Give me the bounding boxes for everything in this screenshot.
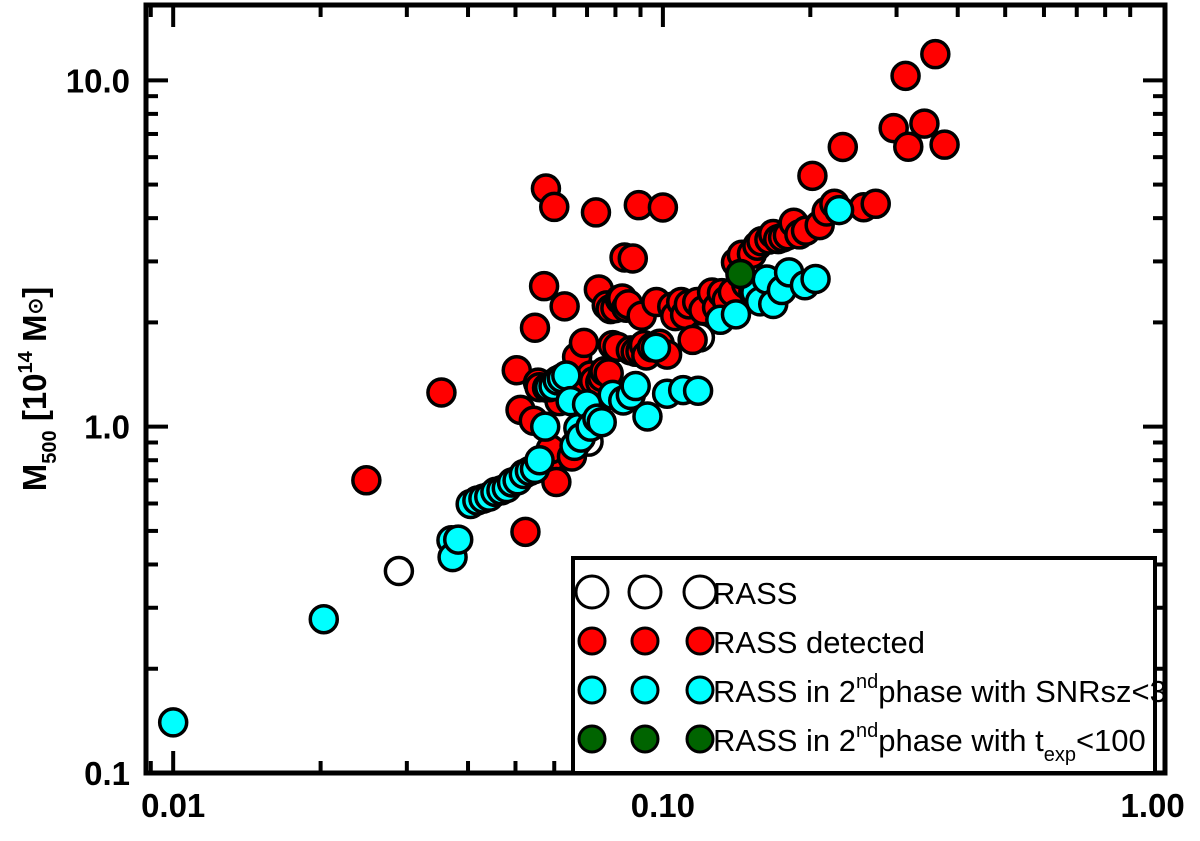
legend-label-1: RASS <box>713 576 797 611</box>
x-tick-label: 0.01 <box>141 787 205 824</box>
data-point <box>588 409 615 436</box>
legend-marker-1-1 <box>576 576 608 608</box>
data-point <box>911 110 938 137</box>
data-point <box>922 41 949 68</box>
legend-marker-2-2 <box>632 628 658 654</box>
data-point <box>570 329 597 356</box>
legend-marker-4-2 <box>632 726 658 752</box>
data-point <box>802 265 829 292</box>
data-point <box>649 194 676 221</box>
data-point <box>634 403 661 430</box>
data-point <box>532 413 559 440</box>
data-point <box>428 379 455 406</box>
data-point <box>895 133 922 160</box>
data-point <box>679 326 706 353</box>
data-point <box>892 62 919 89</box>
series-rass-in-2nd-phase-with-texp-100 <box>727 260 754 287</box>
data-point <box>862 190 889 217</box>
data-point <box>622 373 649 400</box>
data-point <box>551 293 578 320</box>
y-axis-title-text: M500 [1014 M⊙] <box>15 287 61 491</box>
legend-marker-3-2 <box>632 677 658 703</box>
legend-marker-3-1 <box>579 677 605 703</box>
y-tick-label: 0.1 <box>84 755 130 792</box>
data-point <box>512 518 539 545</box>
y-tick-label: 10.0 <box>66 62 130 99</box>
x-axis-title: z <box>655 829 672 841</box>
data-point <box>829 133 856 160</box>
data-point <box>526 447 553 474</box>
data-point <box>685 377 712 404</box>
data-point <box>582 199 609 226</box>
data-point <box>799 162 826 189</box>
data-point <box>521 314 548 341</box>
data-point <box>353 467 380 494</box>
data-point <box>553 362 580 389</box>
data-point <box>931 131 958 158</box>
data-point <box>541 193 568 220</box>
legend-marker-1-3 <box>684 576 716 608</box>
y-tick-label: 1.0 <box>84 409 130 446</box>
y-axis-title: M500 [1014 M⊙] <box>15 287 61 491</box>
data-point <box>310 606 337 633</box>
legend-label-2: RASS detected <box>713 625 925 660</box>
legend-label-3: RASS in 2ndphase with SNRsz<3 <box>713 671 1167 709</box>
series-rass-detected <box>353 41 958 546</box>
data-point <box>619 245 646 272</box>
data-point <box>642 334 669 361</box>
data-point <box>385 558 412 585</box>
x-tick-label: 1.00 <box>1120 787 1184 824</box>
data-point <box>445 526 472 553</box>
legend-marker-4-3 <box>687 726 713 752</box>
legend-marker-1-2 <box>629 576 661 608</box>
chart-canvas: 0.010.101.000.11.010.0zM500 [1014 M⊙]RAS… <box>0 0 1200 841</box>
legend-marker-2-1 <box>579 628 605 654</box>
legend-marker-2-3 <box>687 628 713 654</box>
data-point <box>727 260 754 287</box>
scatter-plot: 0.010.101.000.11.010.0zM500 [1014 M⊙]RAS… <box>0 0 1200 841</box>
data-point <box>531 273 558 300</box>
legend-marker-3-3 <box>687 677 713 703</box>
data-point <box>826 197 853 224</box>
x-tick-label: 0.10 <box>631 787 695 824</box>
data-point <box>160 709 187 736</box>
legend-marker-4-1 <box>579 726 605 752</box>
